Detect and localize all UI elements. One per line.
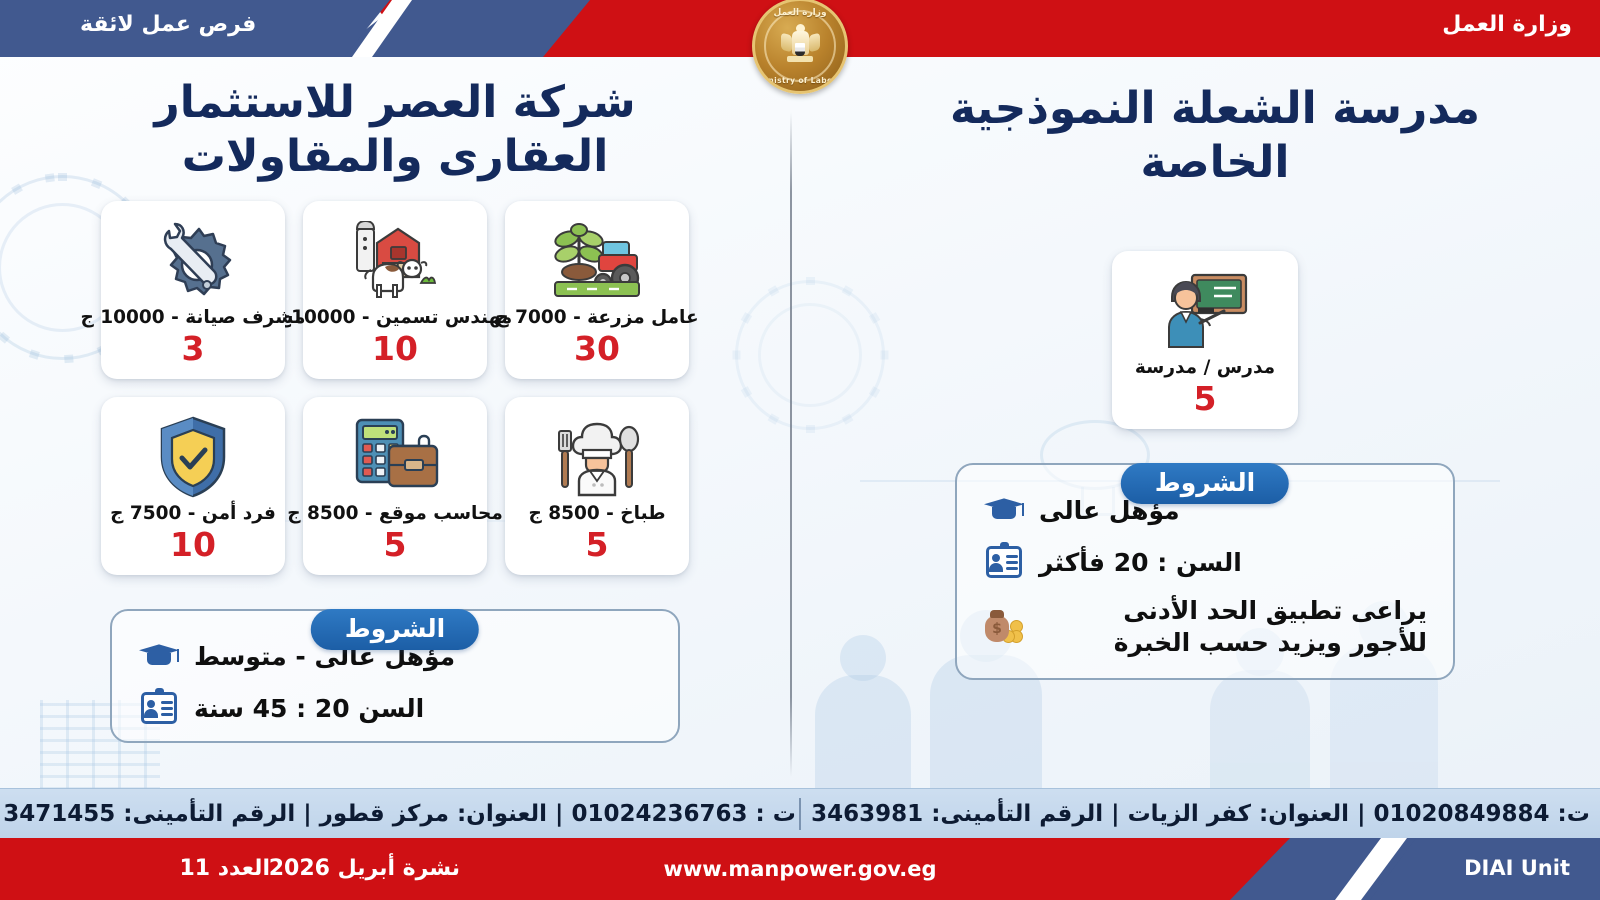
condition-text: السن 20 : 45 سنة	[194, 693, 424, 724]
job-card[interactable]: مدرس / مدرسة 5	[1112, 251, 1298, 429]
job-label: مدرس / مدرسة	[1135, 357, 1275, 378]
job-label: فرد أمن - 7500 ج	[110, 503, 276, 524]
left-conditions-block: الشروط مؤهل عالى - متوسط السن 20 : 45 سن…	[0, 609, 790, 743]
job-card[interactable]: مشرف صيانة - 10000 ج 3	[101, 201, 285, 379]
job-count: 3	[182, 331, 205, 367]
footer-bulletin-date: نشرة أبريل 2026	[269, 856, 460, 881]
job-count: 10	[170, 527, 216, 563]
condition-text: السن : 20 فأكثر	[1039, 547, 1242, 578]
job-label: محاسب موقع - 8500 ج	[287, 503, 503, 524]
graduation-cap-icon	[983, 491, 1025, 529]
job-count: 30	[574, 331, 620, 367]
calculator-briefcase-icon	[351, 411, 439, 503]
contact-bar: ت: 01020849884 | العنوان: كفر الزيات | ا…	[0, 788, 1600, 838]
job-card[interactable]: محاسب موقع - 8500 ج 5	[303, 397, 487, 575]
ministry-of-labour-emblem-icon: وزارة العمل Ministry of Labour	[752, 0, 848, 94]
eagle-of-saladin-icon	[780, 24, 820, 68]
page-footer: العدد 11 نشرة أبريل 2026 www.manpower.go…	[0, 838, 1600, 900]
gear-wrench-icon	[151, 215, 235, 307]
left-employer-panel: شركة العصر للاستثمار العقارى والمقاولات	[0, 60, 790, 743]
job-label: عامل مزرعة - 7000 ج	[495, 307, 698, 328]
conditions-badge: الشروط	[311, 609, 479, 650]
emblem-arabic-text: وزارة العمل	[755, 8, 845, 18]
job-count: 5	[1194, 381, 1217, 417]
barn-cow-icon	[351, 215, 439, 307]
condition-text: يراعى تطبيق الحد الأدنى للأجور ويزيد حسب…	[1039, 595, 1427, 658]
right-panel-title: مدرسة الشعلة النموذجية الخاصة	[810, 60, 1600, 189]
right-panel-jobs: مدرس / مدرسة 5	[810, 251, 1600, 429]
footer-website[interactable]: www.manpower.gov.eg	[664, 857, 937, 881]
job-count: 10	[372, 331, 418, 367]
header-ministry-label: وزارة العمل	[1442, 12, 1572, 37]
graduation-cap-icon	[138, 637, 180, 675]
contact-separator	[799, 798, 801, 830]
condition-row: السن : 20 فأكثر	[983, 543, 1427, 581]
header-slogan: فرص عمل لائقة	[80, 12, 256, 37]
job-label: مهندس تسمين - 10000ج	[278, 307, 513, 328]
chef-cook-icon	[553, 411, 641, 503]
job-card[interactable]: عامل مزرعة - 7000 ج 30	[505, 201, 689, 379]
left-panel-title: شركة العصر للاستثمار العقارى والمقاولات	[0, 60, 790, 183]
job-count: 5	[586, 527, 609, 563]
right-employer-panel: مدرسة الشعلة النموذجية الخاصة	[810, 60, 1600, 680]
job-card[interactable]: فرد أمن - 7500 ج 10	[101, 397, 285, 575]
conditions-badge: الشروط	[1121, 463, 1289, 504]
left-panel-jobs: عامل مزرعة - 7000 ج 30	[0, 201, 790, 575]
right-conditions-block: الشروط مؤهل عالى السن : 20 فأكثر	[810, 463, 1600, 680]
money-bag-icon	[983, 608, 1025, 646]
job-label: طباخ - 8500 ج	[528, 503, 665, 524]
person-silhouette-1	[815, 675, 911, 795]
contact-right: ت : 01024236763 | العنوان: مركز قطور | ا…	[0, 801, 799, 827]
security-shield-icon	[156, 411, 230, 503]
condition-row: يراعى تطبيق الحد الأدنى للأجور ويزيد حسب…	[983, 595, 1427, 658]
job-card[interactable]: طباخ - 8500 ج 5	[505, 397, 689, 575]
farm-tractor-icon	[553, 215, 641, 307]
id-card-icon	[983, 543, 1025, 581]
job-count: 5	[384, 527, 407, 563]
job-card[interactable]: مهندس تسمين - 10000ج 10	[303, 201, 487, 379]
teacher-blackboard-icon	[1162, 265, 1248, 357]
footer-unit-label: DIAI Unit	[1464, 856, 1570, 880]
contact-left: ت: 01020849884 | العنوان: كفر الزيات | ا…	[801, 801, 1600, 827]
person-silhouette-3	[1210, 670, 1310, 795]
center-divider	[790, 112, 792, 777]
condition-row: السن 20 : 45 سنة	[138, 689, 652, 727]
id-card-icon	[138, 689, 180, 727]
footer-issue-number: العدد 11	[179, 856, 270, 881]
job-label: مشرف صيانة - 10000 ج	[81, 307, 306, 328]
infographic-page: فرص عمل لائقة وزارة العمل وزارة العمل Mi…	[0, 0, 1600, 900]
emblem-english-text: Ministry of Labour	[755, 76, 845, 85]
